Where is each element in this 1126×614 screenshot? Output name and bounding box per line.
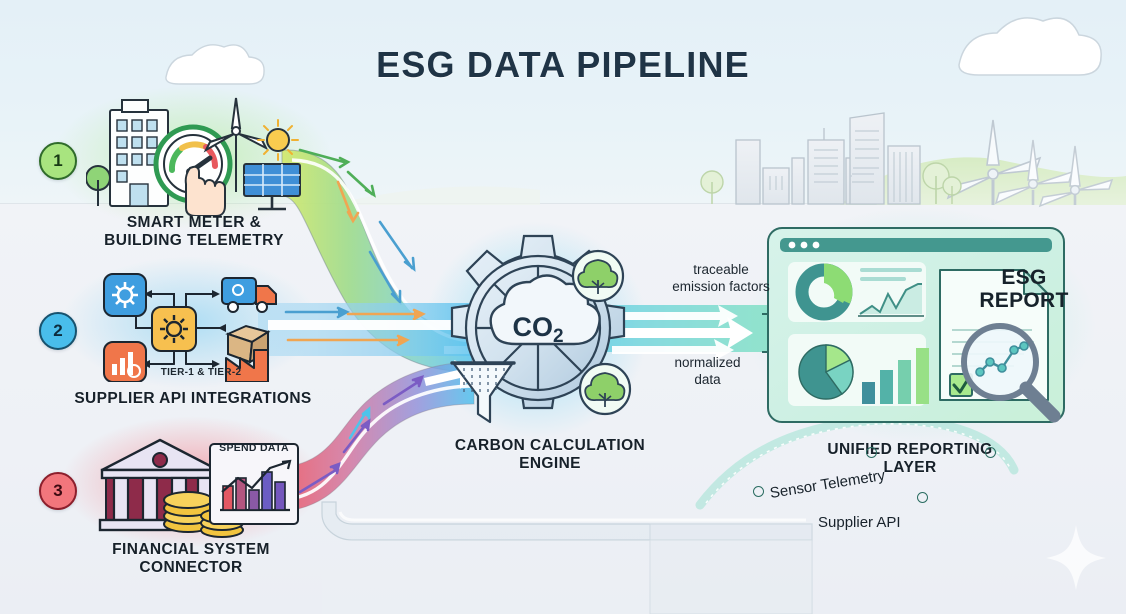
infographic-canvas: ESG DATA PIPELINE (0, 0, 1126, 614)
unified-reporting-dashboard (762, 222, 1090, 430)
tier-sublabel: TIER-1 & TIER-2 (126, 367, 276, 378)
output-caption-line1: UNIFIED REPORTING (760, 441, 1060, 459)
pie-chart (799, 345, 853, 399)
spend-data-card (210, 444, 298, 524)
sparkle-icon (1046, 525, 1106, 590)
sun-icon (258, 120, 298, 160)
gear-icon (104, 274, 146, 316)
stage-3-caption: FINANCIAL SYSTEM CONNECTOR (60, 541, 322, 578)
tree-icon (580, 364, 630, 414)
arc-node (866, 447, 877, 458)
traceable-line-2: emission factors (641, 279, 801, 296)
truck-icon (222, 278, 276, 312)
normalized-data-label: normalized data (645, 355, 770, 389)
stage-2-caption: SUPPLIER API INTEGRATIONS (48, 390, 338, 408)
stage-1-caption-line1: SMART METER & (60, 214, 328, 232)
tree-icon (573, 251, 623, 301)
stage-3-caption-line1: FINANCIAL SYSTEM (60, 541, 322, 559)
stage-1-caption-line2: BUILDING TELEMETRY (60, 232, 328, 250)
window-controls (789, 242, 820, 249)
stage-1-caption: SMART METER & BUILDING TELEMETRY (60, 214, 328, 251)
normalized-line-2: data (645, 372, 770, 389)
output-caption-line2: LAYER (760, 459, 1060, 477)
arc-node (985, 447, 996, 458)
step-badge-1: 1 (39, 142, 77, 180)
gear-icon (152, 307, 196, 351)
glass-pipe (322, 502, 812, 614)
traceable-line-1: traceable (641, 262, 801, 279)
arc-node (753, 486, 764, 497)
carbon-engine-illustration: CO2 (438, 232, 638, 432)
esg-report-title: ESG REPORT (972, 266, 1076, 312)
traceable-emission-factors-label: traceable emission factors (641, 262, 801, 296)
normalized-line-1: normalized (645, 355, 770, 372)
engine-caption-line1: CARBON CALCULATION (410, 437, 690, 455)
window-titlebar (780, 238, 1052, 252)
tree-icon (86, 166, 110, 206)
esg-report-title-line1: ESG (972, 266, 1076, 289)
step-badge-2: 2 (39, 312, 77, 350)
solar-panel-icon (244, 164, 300, 209)
step-badge-3: 3 (39, 472, 77, 510)
esg-report-title-line2: REPORT (972, 289, 1076, 312)
supplier-api-label: Supplier API (818, 514, 901, 531)
engine-caption-line2: ENGINE (410, 455, 690, 473)
output-caption: UNIFIED REPORTING LAYER (760, 441, 1060, 478)
supplier-api-illustration (90, 272, 280, 382)
stage-3-caption-line2: CONNECTOR (60, 559, 322, 577)
arc-node (917, 492, 928, 503)
smart-meter-illustration (86, 92, 302, 216)
engine-caption: CARBON CALCULATION ENGINE (410, 437, 690, 474)
spend-data-label: SPEND DATA (210, 442, 298, 454)
